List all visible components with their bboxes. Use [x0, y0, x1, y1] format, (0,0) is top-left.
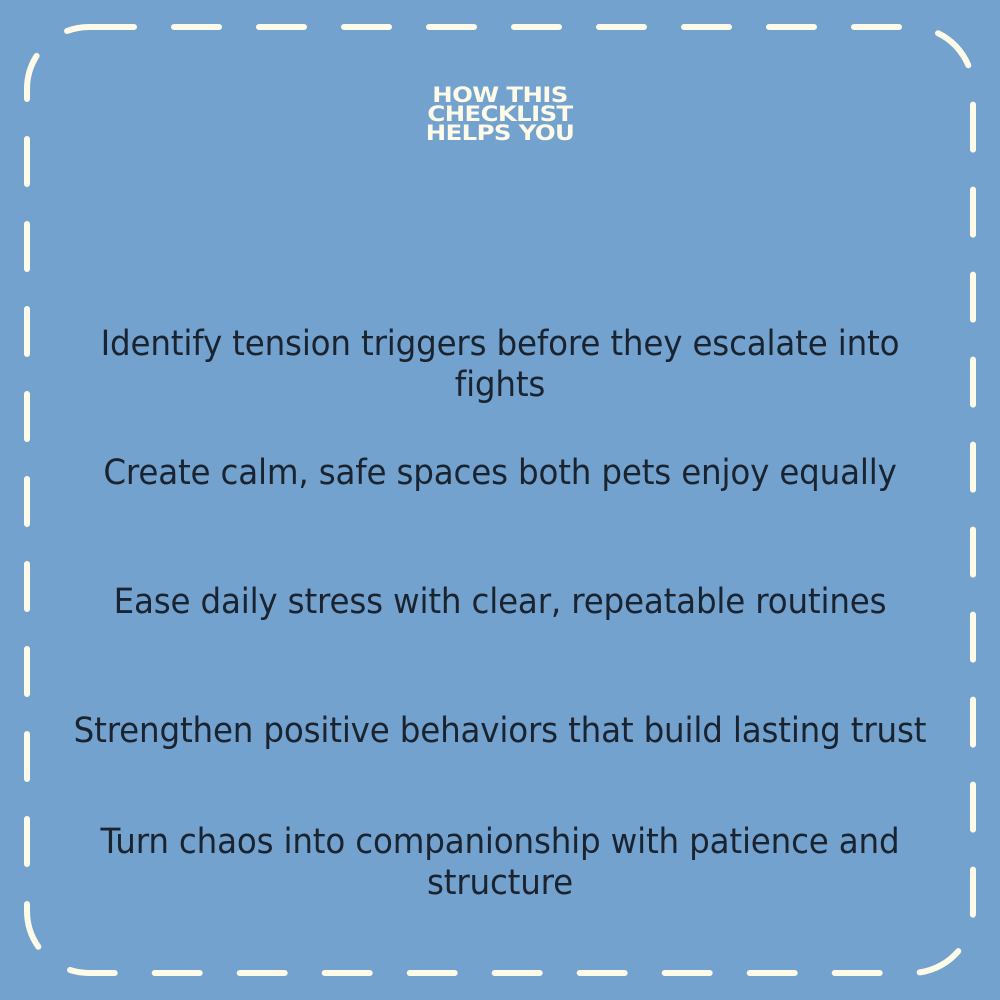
- poster-content: HOW THIS CHECKLIST HELPS YOU Identify te…: [0, 0, 1000, 1000]
- page-title: HOW THIS CHECKLIST HELPS YOU: [0, 86, 1000, 142]
- page-title-line-3: HELPS YOU: [0, 124, 1000, 142]
- list-item: Create calm, safe spaces both pets enjoy…: [72, 453, 928, 494]
- checklist-poster: HOW THIS CHECKLIST HELPS YOU Identify te…: [0, 0, 1000, 1000]
- list-item: Strengthen positive behaviors that build…: [72, 711, 928, 752]
- list-item: Turn chaos into companionship with patie…: [72, 822, 928, 903]
- list-item: Ease daily stress with clear, repeatable…: [72, 582, 928, 623]
- list-item: Identify tension triggers before they es…: [72, 324, 928, 405]
